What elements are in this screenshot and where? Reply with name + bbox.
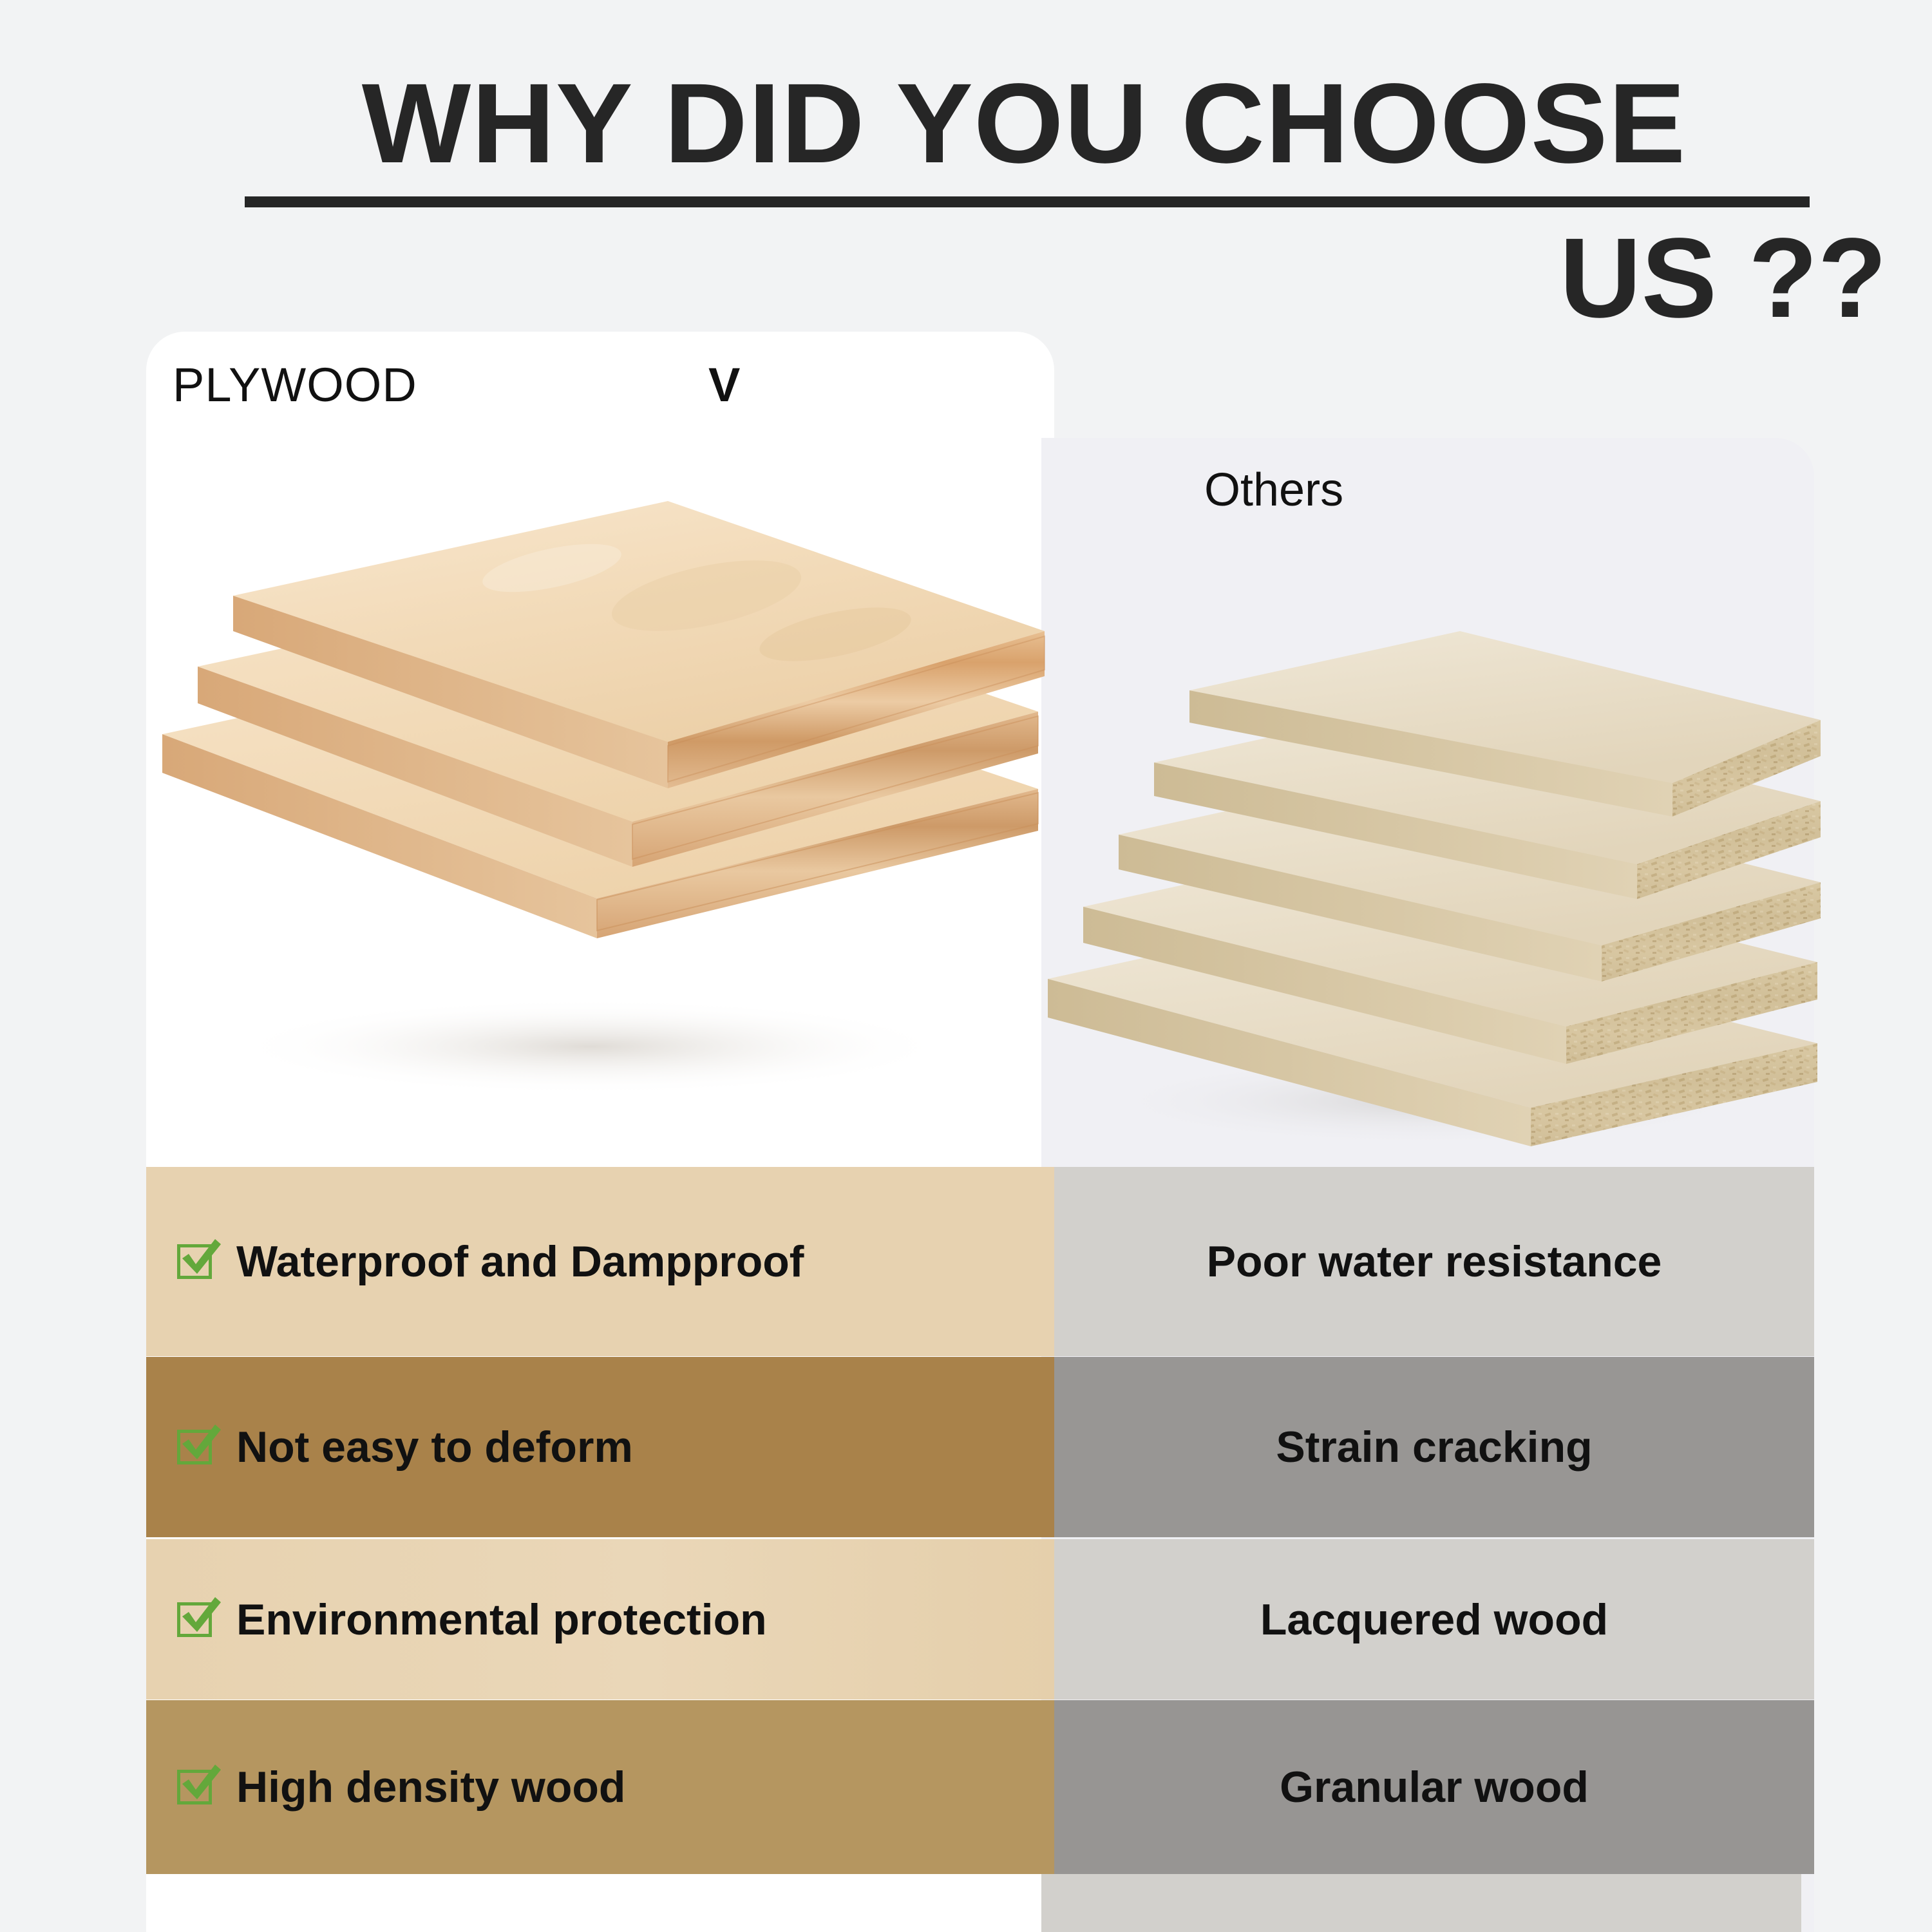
particleboard-slab-stack-photo: [1041, 567, 1814, 1185]
green-check-box-icon: [177, 1767, 217, 1807]
title-line-2: US ??: [155, 219, 1893, 338]
plywood-feature-cell: Not easy to deform: [146, 1357, 1054, 1537]
check-mark-glyph: [176, 1591, 223, 1638]
check-mark-glyph: [176, 1758, 223, 1806]
plywood-feature-label: Environmental protection: [236, 1595, 767, 1645]
particleboard-illustration-svg: [1041, 567, 1821, 1185]
green-check-box-icon: [177, 1242, 217, 1282]
others-panel-footer: [1041, 1874, 1801, 1932]
others-feature-label: Strain cracking: [1276, 1422, 1592, 1472]
table-row: Not easy to deform Strain cracking: [146, 1357, 1814, 1537]
table-row: Waterproof and Dampproof Poor water resi…: [146, 1167, 1814, 1356]
others-feature-cell: Granular wood: [1054, 1700, 1814, 1874]
others-feature-label: Lacquered wood: [1260, 1595, 1608, 1645]
check-mark-glyph: [176, 1418, 223, 1466]
green-check-box-icon: [177, 1427, 217, 1467]
page-title: WHY DID YOU CHOOSE US ??: [155, 64, 1893, 338]
plywood-sheet-stack-photo: [146, 480, 1054, 1169]
table-row: Environmental protection Lacquered wood: [146, 1539, 1814, 1700]
title-line-1: WHY DID YOU CHOOSE: [137, 64, 1911, 184]
plywood-feature-label: Waterproof and Dampproof: [236, 1236, 804, 1287]
title-underline-rule: [245, 196, 1810, 207]
plywood-feature-label: High density wood: [236, 1762, 625, 1812]
plywood-panel-label: PLYWOOD: [173, 357, 417, 412]
plywood-feature-cell: Waterproof and Dampproof: [146, 1167, 1054, 1356]
others-panel-label: Others: [1204, 464, 1343, 516]
chevron-down-icon: V: [708, 357, 740, 412]
others-feature-cell: Strain cracking: [1054, 1357, 1814, 1537]
green-check-box-icon: [177, 1600, 217, 1640]
check-mark-glyph: [176, 1233, 223, 1280]
others-feature-label: Poor water resistance: [1207, 1236, 1662, 1287]
plywood-panel-footer: [146, 1874, 1054, 1932]
table-row: High density wood Granular wood: [146, 1700, 1814, 1874]
feature-comparison-table: Waterproof and Dampproof Poor water resi…: [146, 1167, 1814, 1932]
others-feature-cell: Lacquered wood: [1054, 1539, 1814, 1700]
plywood-feature-cell: Environmental protection: [146, 1539, 1054, 1700]
plywood-feature-label: Not easy to deform: [236, 1422, 633, 1472]
others-feature-cell: Poor water resistance: [1054, 1167, 1814, 1356]
others-feature-label: Granular wood: [1280, 1762, 1589, 1812]
plywood-illustration-svg: [146, 480, 1054, 1188]
plywood-feature-cell: High density wood: [146, 1700, 1054, 1874]
